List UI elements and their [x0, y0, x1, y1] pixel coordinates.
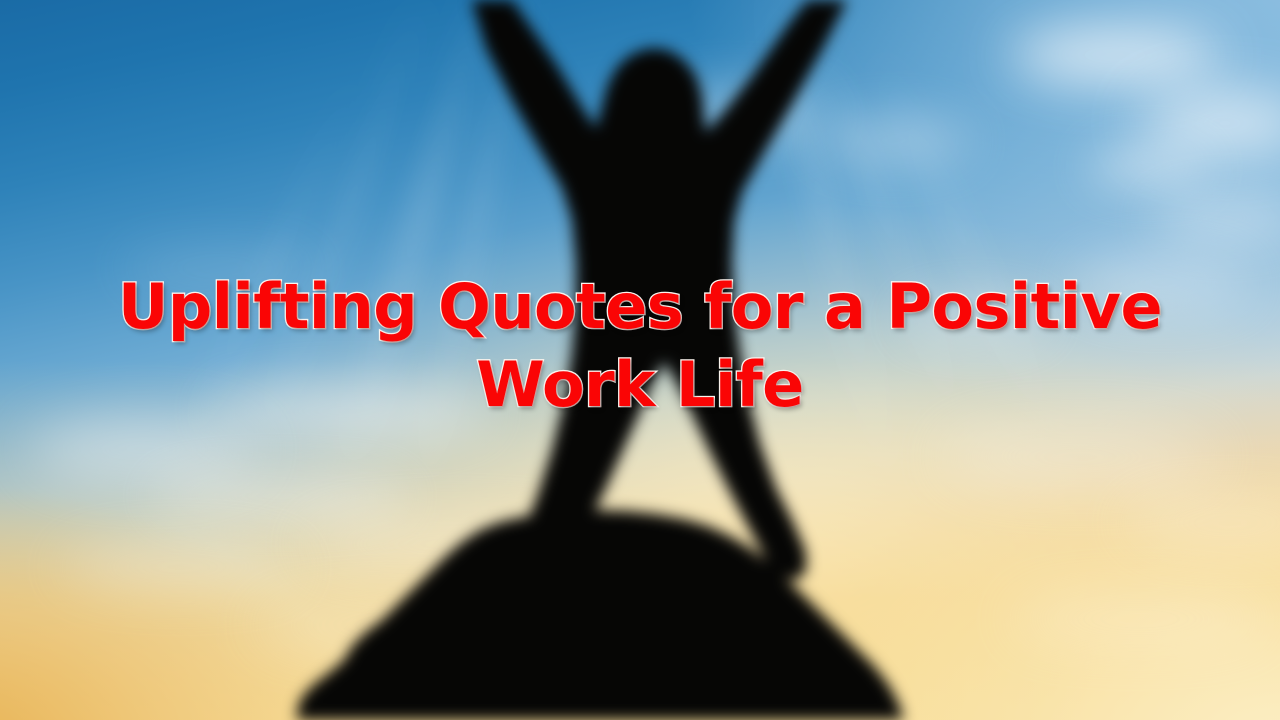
person-silhouette — [470, 0, 850, 582]
silhouette-svg — [0, 0, 1280, 720]
silhouette-layer — [0, 0, 1280, 720]
image-canvas: Uplifting Quotes for a Positive Work Lif… — [0, 0, 1280, 720]
rock-silhouette — [296, 510, 904, 720]
